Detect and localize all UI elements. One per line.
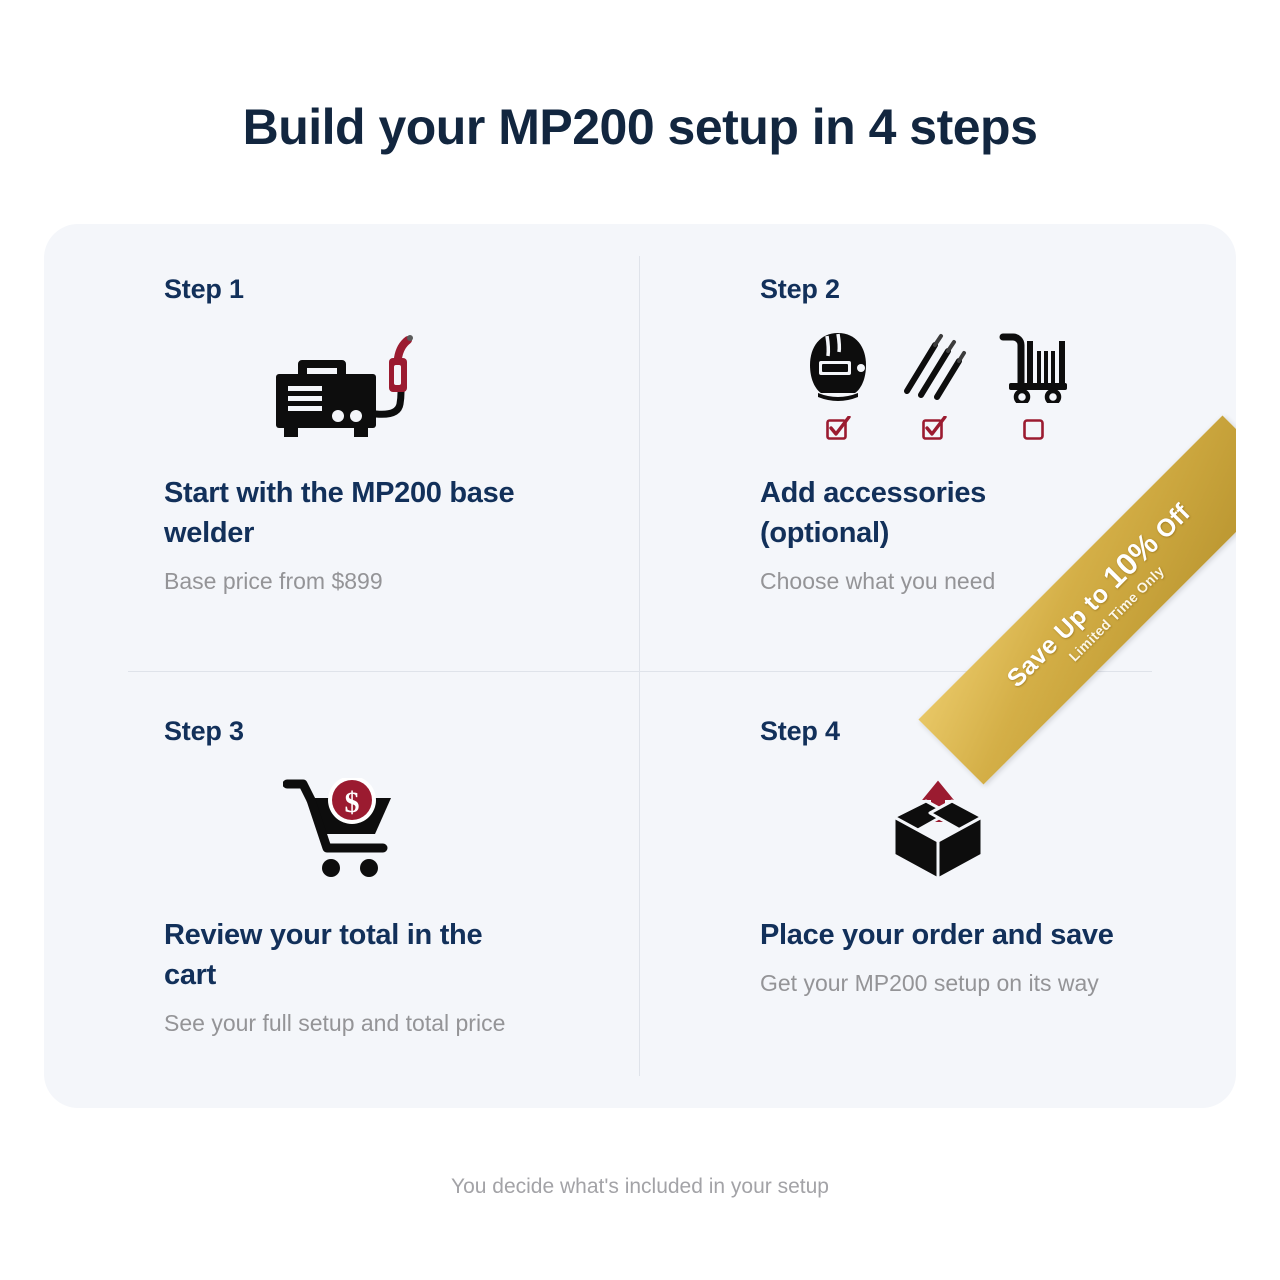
step-sub-4: Get your MP200 setup on its way: [760, 967, 1140, 1000]
accessory-option-cart[interactable]: [997, 331, 1071, 447]
footer-note: You decide what's included in your setup: [0, 1175, 1280, 1199]
step-label-3: Step 3: [164, 716, 578, 747]
step-heading-4: Place your order and save: [760, 915, 1120, 955]
welding-helmet-icon: [805, 331, 871, 408]
steps-card: Step 1: [44, 224, 1236, 1108]
svg-text:$: $: [345, 786, 360, 819]
step-heading-2: Add accessories (optional): [760, 473, 1120, 553]
step-label-1: Step 1: [164, 274, 578, 305]
step-card-1[interactable]: Step 1: [44, 224, 640, 666]
step-label-2: Step 2: [760, 274, 1174, 305]
step-3-icon-zone: $: [164, 747, 578, 915]
shipping-box-arrow-icon: [886, 775, 990, 888]
hand-cart-icon: [997, 331, 1071, 408]
page-title: Build your MP200 setup in 4 steps: [0, 98, 1280, 156]
shopping-cart-dollar-icon: $: [283, 778, 401, 885]
step-4-icon-zone: [760, 747, 1174, 915]
step-2-icon-zone: [760, 305, 1174, 473]
step-sub-1: Base price from $899: [164, 565, 544, 598]
step-heading-1: Start with the MP200 base welder: [164, 473, 524, 553]
accessory-icon-row: [805, 331, 1071, 447]
welding-rods-icon: [901, 331, 967, 408]
welder-machine-icon: [268, 332, 416, 447]
promo-page: Build your MP200 setup in 4 steps Step 1: [0, 0, 1280, 1280]
accessory-option-rods[interactable]: [901, 331, 967, 447]
step-sub-3: See your full setup and total price: [164, 1007, 544, 1040]
step-1-icon-zone: [164, 305, 578, 473]
accessory-option-helmet[interactable]: [805, 331, 871, 447]
checkbox-cart-unchecked[interactable]: [1021, 416, 1047, 447]
step-card-3[interactable]: Step 3 $: [44, 666, 640, 1108]
checkbox-helmet-checked[interactable]: [825, 416, 851, 447]
step-heading-3: Review your total in the cart: [164, 915, 524, 995]
checkbox-rods-checked[interactable]: [921, 416, 947, 447]
